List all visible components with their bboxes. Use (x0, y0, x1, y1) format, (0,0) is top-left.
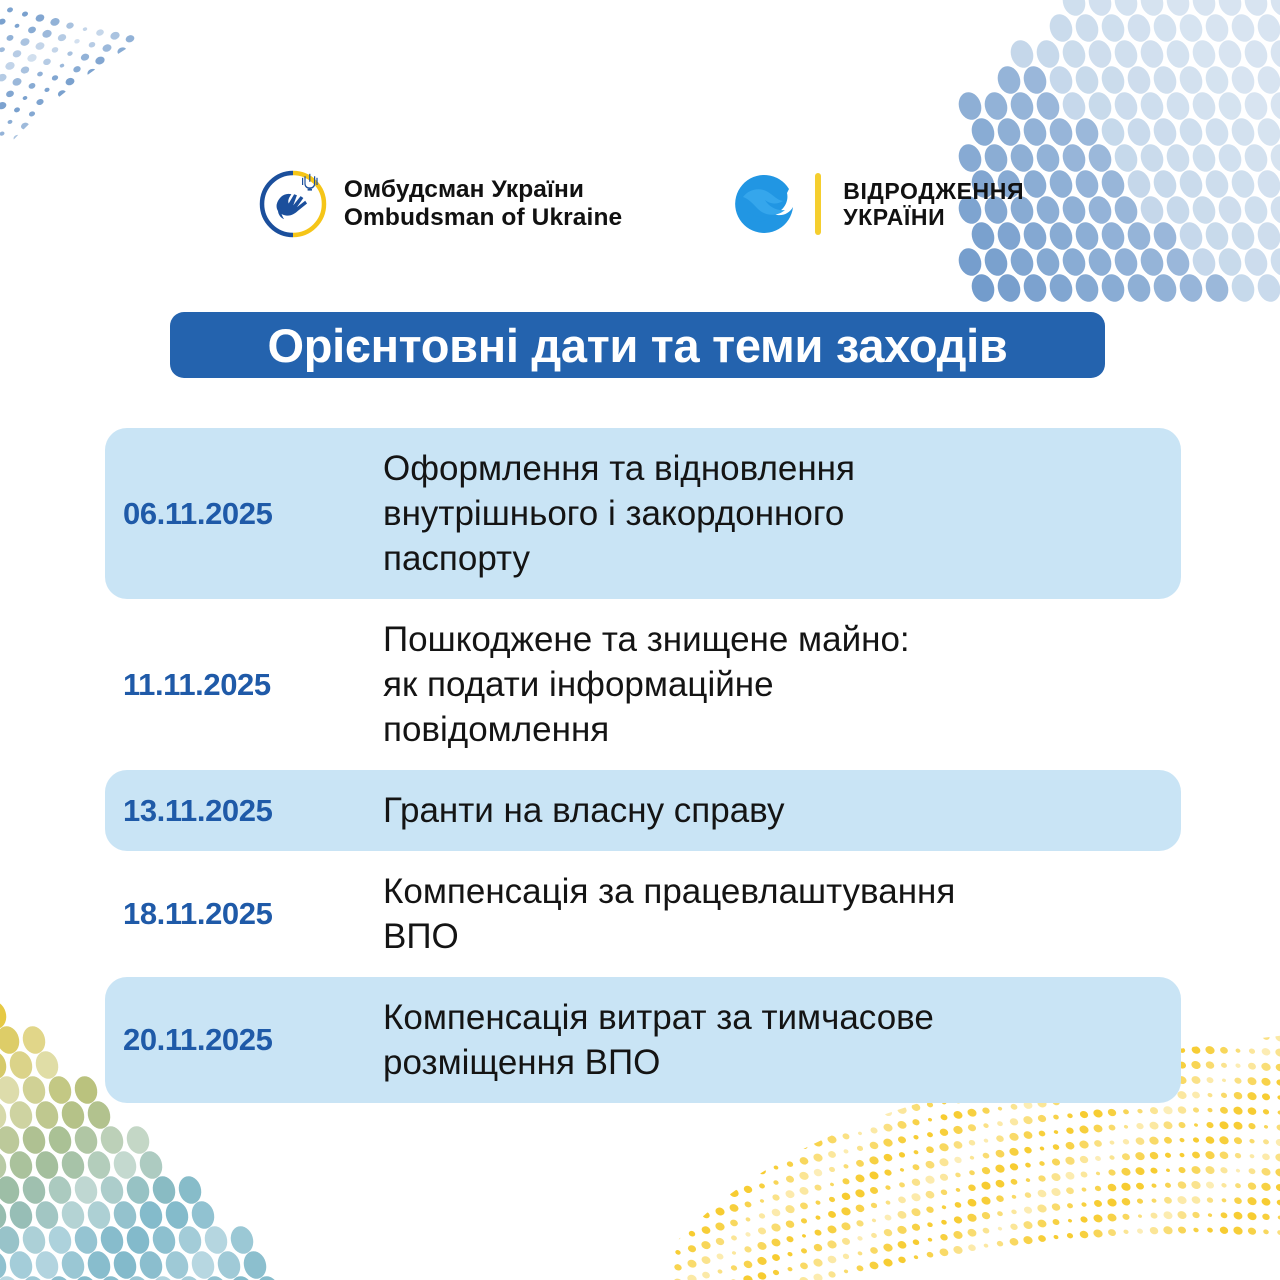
phoenix-circle-emblem-icon (727, 167, 801, 241)
schedule-row-topic: Гранти на власну справу (383, 788, 1181, 833)
ombudsman-dove-emblem-icon (256, 167, 330, 241)
vidrodzhennia-logo-line-2: УКРАЇНИ (843, 204, 1024, 230)
vidrodzhennia-logo: ВІДРОДЖЕННЯ УКРАЇНИ (727, 167, 1024, 241)
schedule-row-date: 20.11.2025 (105, 1022, 383, 1058)
schedule-row-date: 06.11.2025 (105, 496, 383, 532)
ombudsman-logo-line-1: Омбудсман України (344, 176, 622, 204)
schedule-row: 13.11.2025Гранти на власну справу (105, 770, 1181, 851)
schedule-list: 06.11.2025Оформлення та відновлення внут… (105, 428, 1181, 1103)
logo-divider (815, 173, 821, 235)
schedule-row-topic: Компенсація за працевлаштування ВПО (383, 869, 1181, 959)
schedule-row: 18.11.2025Компенсація за працевлаштуванн… (105, 851, 1181, 977)
schedule-row-topic: Пошкоджене та знищене майно: як подати і… (383, 617, 1181, 752)
schedule-row: 06.11.2025Оформлення та відновлення внут… (105, 428, 1181, 599)
ombudsman-logo: Омбудсман України Ombudsman of Ukraine (256, 167, 622, 241)
vidrodzhennia-logo-line-1: ВІДРОДЖЕННЯ (843, 178, 1024, 204)
top-right-halftone-dots-decoration (950, 0, 1280, 310)
logo-bar: Омбудсман України Ombudsman of Ukraine В… (0, 158, 1280, 250)
schedule-row-topic: Компенсація витрат за тимчасове розміщен… (383, 995, 1181, 1085)
schedule-row: 20.11.2025Компенсація витрат за тимчасов… (105, 977, 1181, 1103)
page-title: Орієнтовні дати та теми заходів (267, 322, 1007, 369)
page-title-banner: Орієнтовні дати та теми заходів (170, 312, 1105, 378)
ombudsman-logo-line-2: Ombudsman of Ukraine (344, 204, 622, 232)
schedule-row-date: 18.11.2025 (105, 896, 383, 932)
poster-canvas: Омбудсман України Ombudsman of Ukraine В… (0, 0, 1280, 1280)
schedule-row-date: 13.11.2025 (105, 793, 383, 829)
schedule-row-date: 11.11.2025 (105, 667, 383, 703)
schedule-row-topic: Оформлення та відновлення внутрішнього і… (383, 446, 1181, 581)
schedule-row: 11.11.2025Пошкоджене та знищене майно: я… (105, 599, 1181, 770)
